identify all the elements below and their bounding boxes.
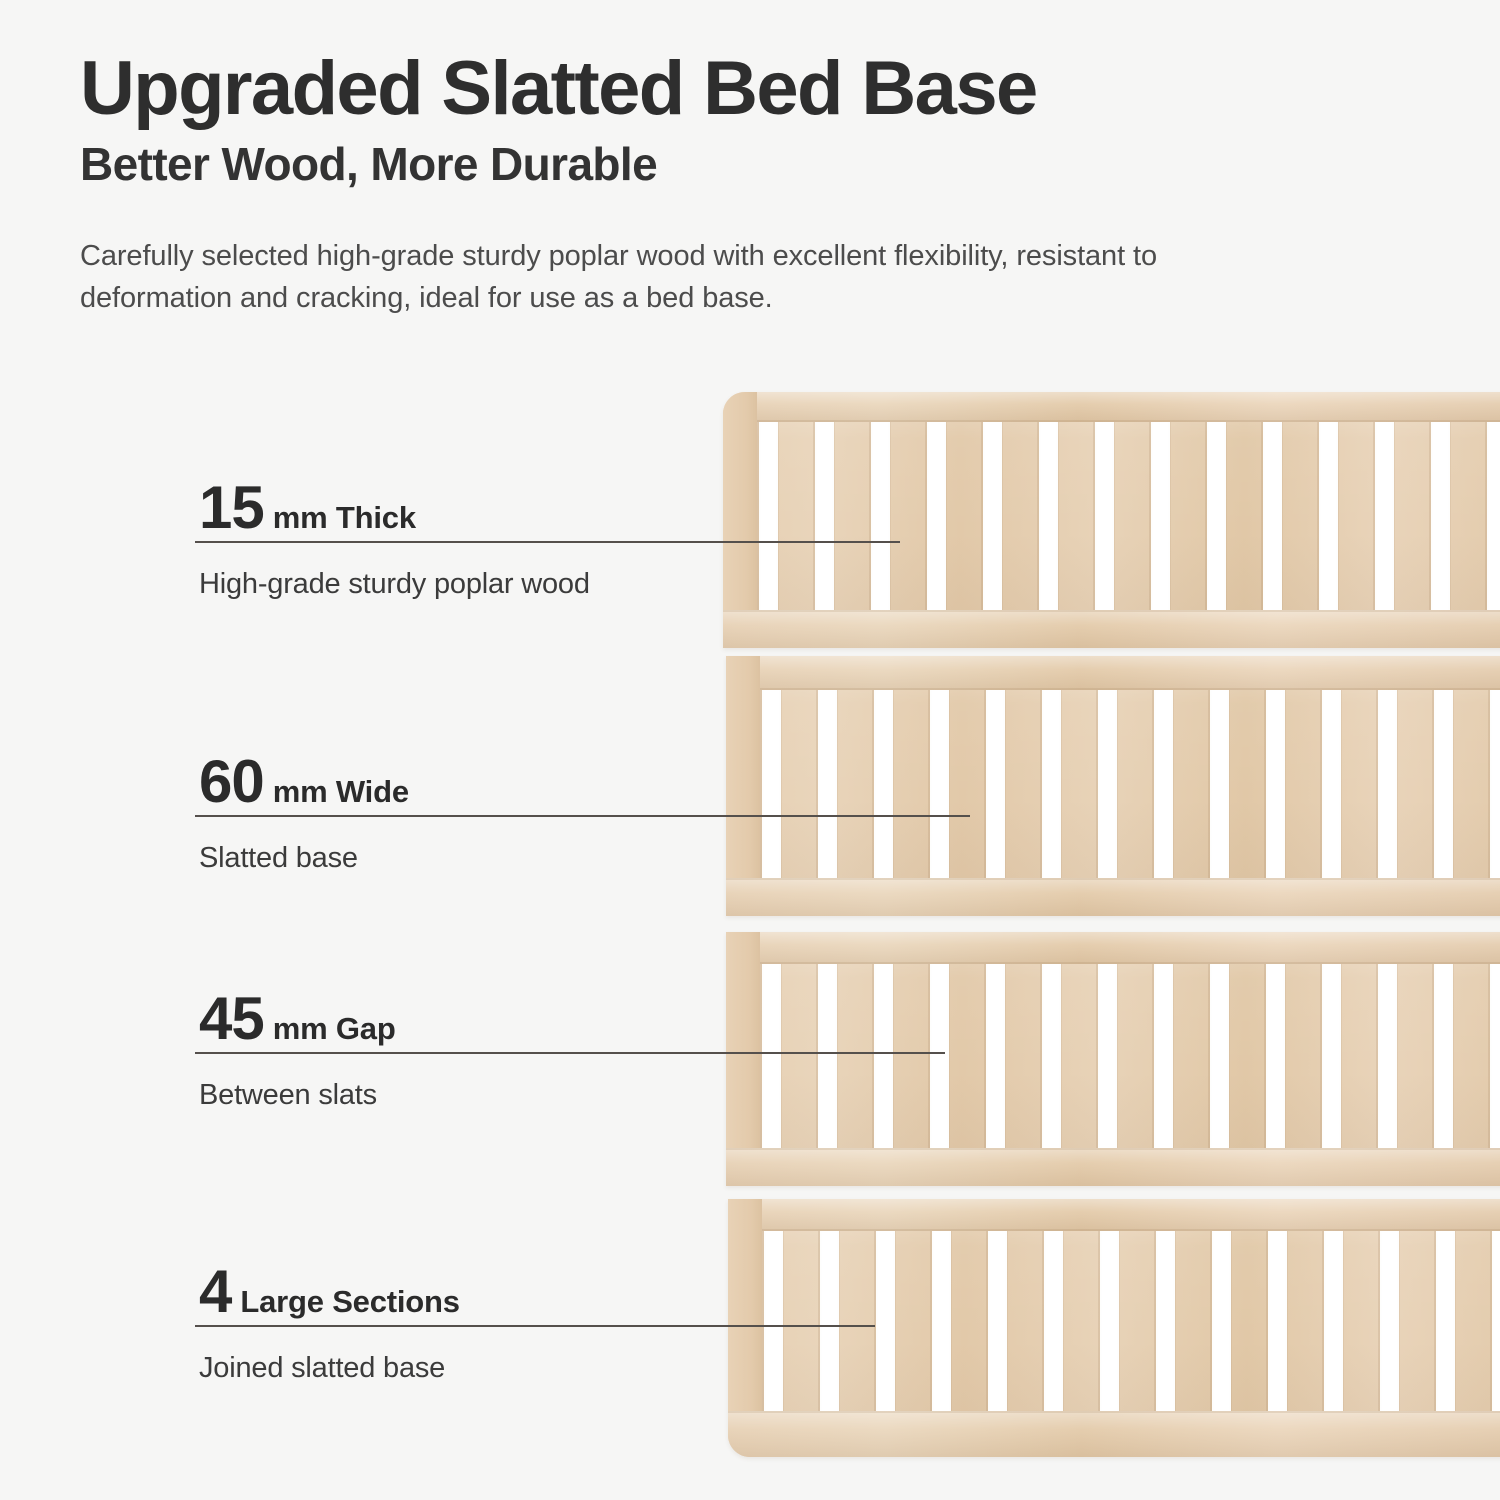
callout-4-heading: 4 Large Sections — [195, 1262, 885, 1322]
callout-4-leader-line — [195, 1325, 875, 1327]
callout-4-unit: Large Sections — [240, 1286, 459, 1317]
page-title: Upgraded Slatted Bed Base — [80, 50, 1420, 128]
callout-3-unit: mm Gap — [273, 1013, 396, 1044]
callout-3-heading: 45 mm Gap — [195, 989, 955, 1049]
panel-2-bottom-rail — [726, 878, 1500, 916]
panel-1-top-rail — [723, 392, 1500, 422]
callout-sections: 4 Large Sections Joined slatted base — [195, 1262, 885, 1385]
callout-2-unit: mm Wide — [273, 776, 409, 807]
callout-1-number: 15 — [199, 478, 264, 538]
infographic-canvas: Upgraded Slatted Bed Base Better Wood, M… — [0, 0, 1500, 1500]
panel-4-top-rail — [728, 1199, 1500, 1231]
panel-3-top-rail — [726, 932, 1500, 964]
description-line-1: Carefully selected high-grade sturdy pop… — [80, 240, 1157, 272]
callout-4-description: Joined slatted base — [195, 1352, 885, 1385]
callout-4-number: 4 — [199, 1262, 231, 1322]
callout-3-leader-line — [195, 1052, 945, 1054]
callout-gap: 45 mm Gap Between slats — [195, 989, 955, 1112]
callout-1-unit: mm Thick — [273, 502, 416, 533]
callout-1-heading: 15 mm Thick — [195, 478, 915, 538]
callout-thickness: 15 mm Thick High-grade sturdy poplar woo… — [195, 478, 915, 601]
callout-width: 60 mm Wide Slatted base — [195, 752, 985, 875]
callout-1-description: High-grade sturdy poplar wood — [195, 568, 915, 601]
callout-3-number: 45 — [199, 989, 264, 1049]
header-block: Upgraded Slatted Bed Base Better Wood, M… — [80, 50, 1420, 319]
panel-3-bottom-rail — [726, 1148, 1500, 1186]
callout-2-description: Slatted base — [195, 842, 985, 875]
callout-2-number: 60 — [199, 752, 264, 812]
description-line-2: deformation and cracking, ideal for use … — [80, 277, 1400, 319]
callout-2-leader-line — [195, 815, 970, 817]
page-subtitle: Better Wood, More Durable — [80, 136, 1420, 194]
callout-3-description: Between slats — [195, 1079, 955, 1112]
panel-2-top-rail — [726, 656, 1500, 690]
callout-1-leader-line — [195, 541, 900, 543]
panel-1-bottom-rail — [723, 610, 1500, 648]
callout-2-heading: 60 mm Wide — [195, 752, 985, 812]
panel-4-bottom-rail — [728, 1411, 1500, 1457]
page-description: Carefully selected high-grade sturdy pop… — [80, 235, 1400, 319]
